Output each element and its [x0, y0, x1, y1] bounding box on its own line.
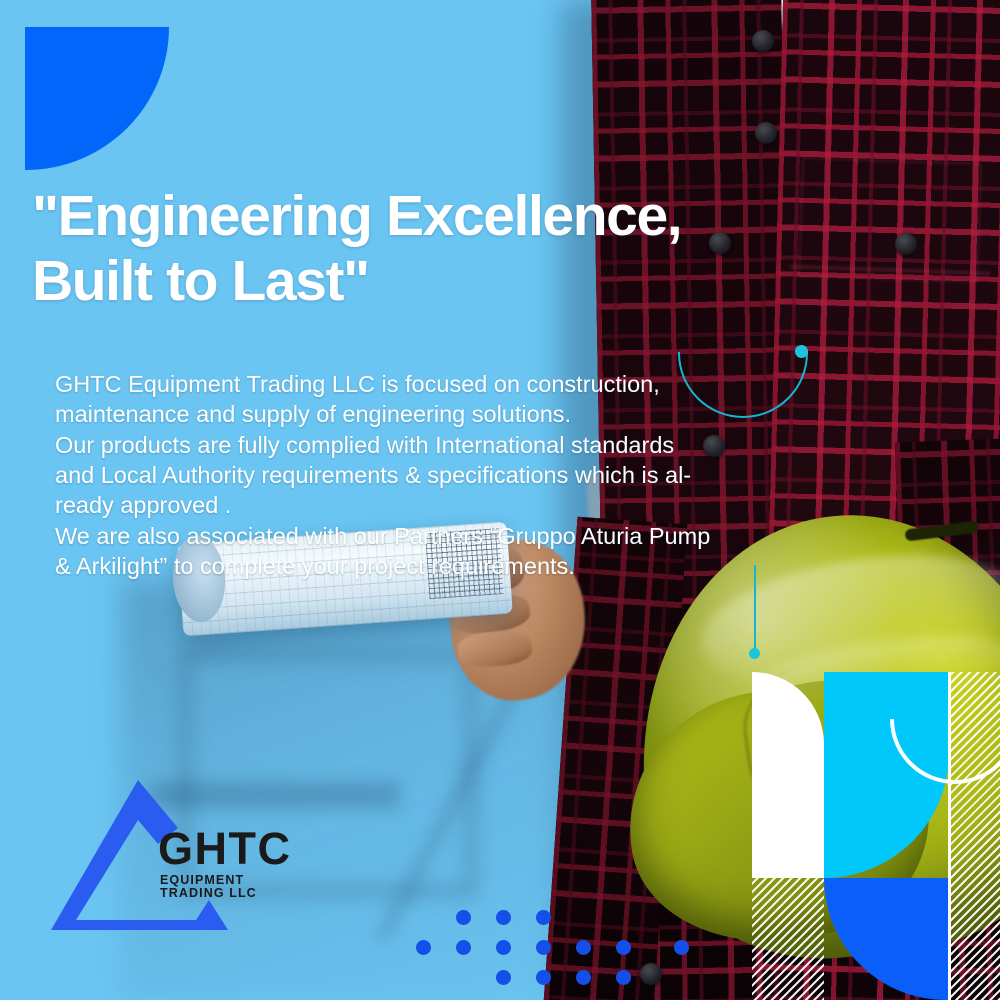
grid-dot — [456, 940, 471, 955]
white-vertical-divider — [948, 672, 951, 1000]
grid-dot — [496, 910, 511, 925]
promotional-poster: "Engineering Excellence, Built to Last" … — [0, 0, 1000, 1000]
grid-dot — [674, 940, 689, 955]
grid-dot — [456, 910, 471, 925]
grid-dot — [496, 940, 511, 955]
grid-dot — [536, 970, 551, 985]
shirt-button-2 — [755, 122, 777, 144]
geometric-brand-composition — [752, 672, 1000, 1000]
grid-dot — [576, 970, 591, 985]
hatch-pattern-left — [752, 878, 824, 1000]
shirt-button-1 — [752, 30, 774, 52]
grid-dot — [536, 940, 551, 955]
logo-wordmark: GHTC — [158, 826, 292, 871]
shirt-button-7 — [640, 963, 662, 985]
white-rounded-block — [752, 672, 824, 878]
grid-dot — [416, 940, 431, 955]
hardhat-pointer-dot — [749, 648, 760, 659]
page-title: "Engineering Excellence, Built to Last" — [32, 184, 732, 314]
blue-quarter-circle-block — [824, 878, 949, 1000]
grid-dot — [616, 940, 631, 955]
grid-dot — [496, 970, 511, 985]
company-logo[interactable]: GHTC EQUIPMENT TRADING LLC — [46, 778, 306, 933]
shirt-button-4 — [895, 233, 917, 255]
grid-dot — [616, 970, 631, 985]
logo-tagline: EQUIPMENT TRADING LLC — [160, 874, 306, 899]
hardhat-pointer-line — [754, 565, 756, 653]
grid-dot — [536, 910, 551, 925]
body-paragraph: GHTC Equipment Trading LLC is focused on… — [55, 369, 715, 581]
shirt-pocket-flap — [798, 157, 982, 283]
grid-dot — [576, 940, 591, 955]
semicircle-endpoint-dot — [795, 345, 808, 358]
